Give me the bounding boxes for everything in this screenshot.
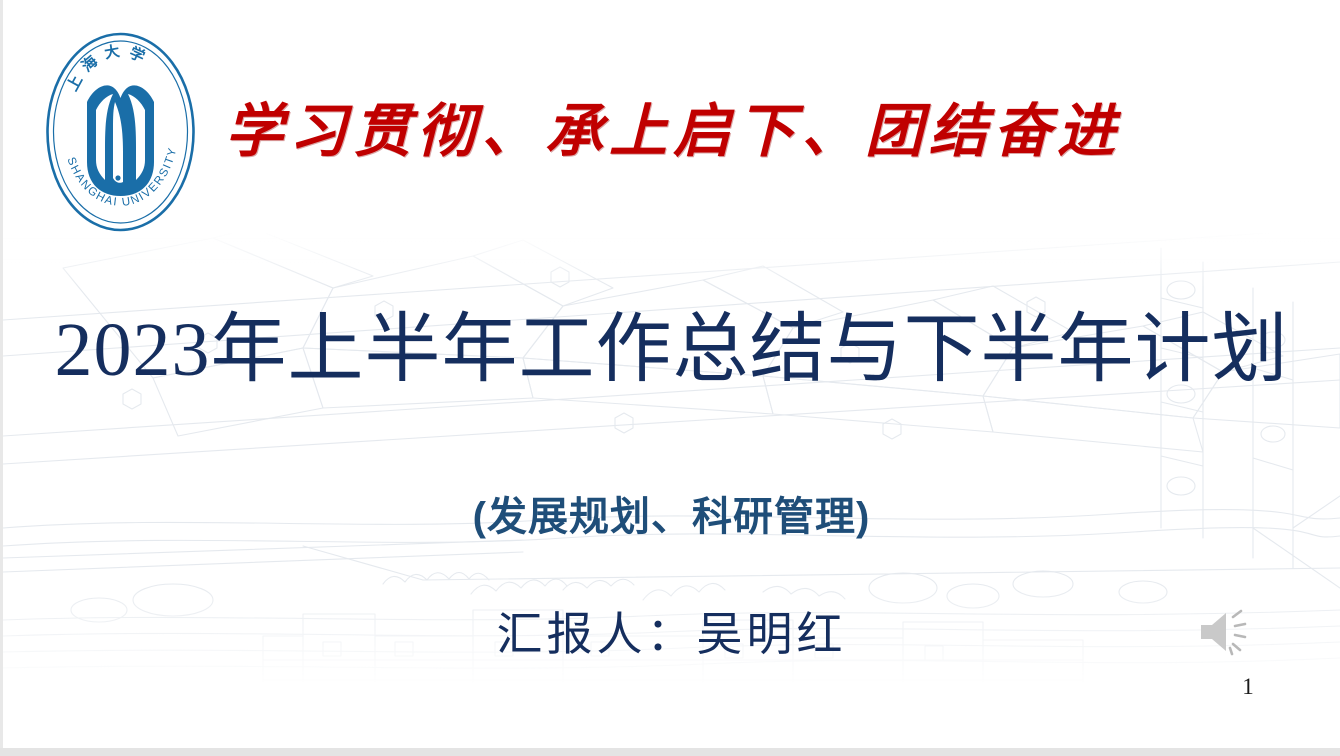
shanghai-university-logo: 上 海 大 学 SHANGHAI UNIVERSITY — [43, 30, 198, 235]
watermark-top-fade — [3, 228, 1340, 288]
slide-bottom-border — [0, 748, 1340, 756]
presentation-slide: 上 海 大 学 SHANGHAI UNIVERSITY 学习贯彻、承上启下、团结… — [0, 0, 1340, 756]
page-title: 2023年上半年工作总结与下半年计划 — [3, 300, 1340, 400]
calligraphy-slogan: 学习贯彻、承上启下、团结奋进 — [225, 92, 985, 172]
page-subtitle: (发展规划、科研管理) — [3, 490, 1340, 544]
slide-canvas: 上 海 大 学 SHANGHAI UNIVERSITY 学习贯彻、承上启下、团结… — [3, 0, 1340, 748]
slide-page-number: 1 — [1225, 672, 1271, 702]
speaker-volume-icon[interactable] — [1195, 604, 1255, 660]
presenter-line: 汇报人：吴明红 — [3, 604, 1340, 666]
